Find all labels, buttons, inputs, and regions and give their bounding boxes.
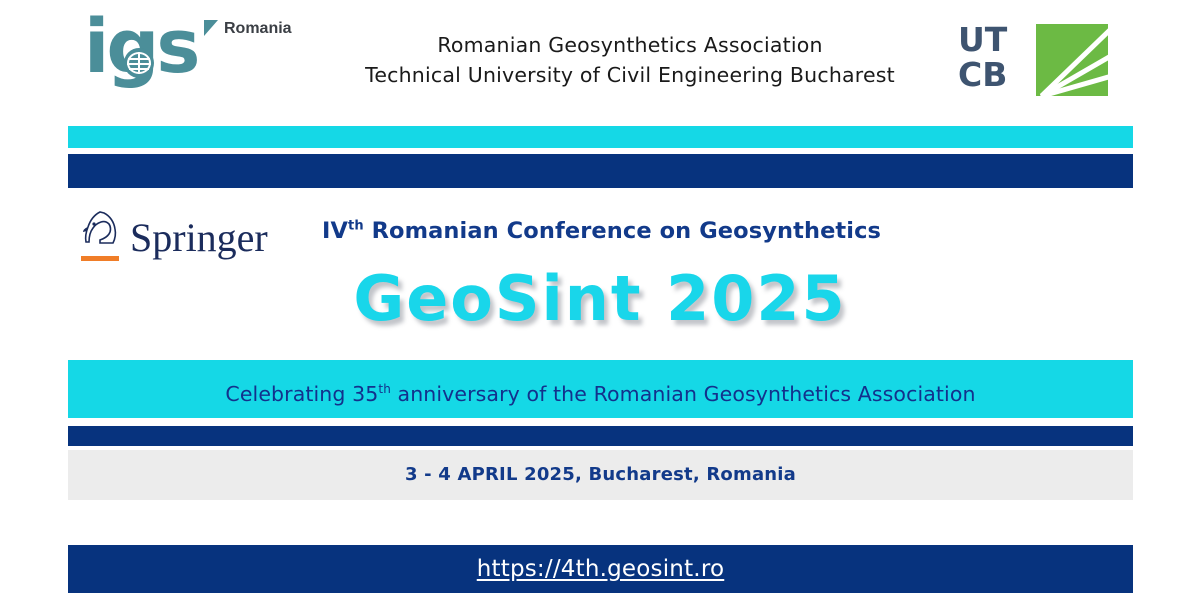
utcb-logo: UT CB — [958, 22, 1138, 102]
website-url-link[interactable]: https://4th.geosint.ro — [68, 545, 1133, 593]
cyan-divider-band-top — [68, 126, 1133, 148]
conference-edition-suffix: th — [348, 219, 364, 234]
organizer-line-2: Technical University of Civil Engineerin… — [330, 60, 930, 90]
utcb-line-1: UT — [958, 22, 1007, 57]
conference-title: IVth Romanian Conference on Geosynthetic… — [322, 218, 881, 244]
header-banner: igs Romania Romanian Geosynthetics Assoc… — [0, 0, 1200, 118]
utcb-wordmark: UT CB — [958, 22, 1007, 92]
igs-region-label: Romania — [224, 20, 292, 38]
organizer-names: Romanian Geosynthetics Association Techn… — [330, 30, 930, 90]
springer-wordmark: Springer — [130, 214, 268, 261]
igs-romania-logo: igs Romania — [84, 18, 299, 98]
globe-icon — [124, 48, 154, 78]
organizer-line-1: Romanian Geosynthetics Association — [330, 30, 930, 60]
globe-grid-lines — [124, 48, 154, 78]
event-date-location: 3 - 4 APRIL 2025, Bucharest, Romania — [68, 450, 1133, 500]
anniversary-text: Celebrating 35th anniversary of the Roma… — [68, 360, 1133, 418]
navy-divider-band-top — [68, 154, 1133, 188]
event-date-band: 3 - 4 APRIL 2025, Bucharest, Romania — [68, 450, 1133, 500]
utcb-line-2: CB — [958, 57, 1007, 92]
anniversary-suffix: th — [378, 382, 391, 396]
flag-icon — [204, 20, 218, 36]
anniversary-band: Celebrating 35th anniversary of the Roma… — [68, 360, 1133, 418]
website-band: https://4th.geosint.ro — [68, 545, 1133, 593]
conference-brand-title: GeoSint 2025 — [0, 262, 1200, 336]
navy-divider-band-mid — [68, 426, 1133, 446]
anniversary-rest: anniversary of the Romanian Geosynthetic… — [391, 382, 976, 406]
springer-orange-rule — [81, 256, 119, 261]
anniversary-prefix: Celebrating 35 — [225, 382, 378, 406]
conference-title-rest: Romanian Conference on Geosynthetics — [364, 218, 881, 244]
conference-edition: IV — [322, 218, 348, 244]
utcb-green-square-icon — [1036, 24, 1108, 96]
knight-horse-head-icon — [80, 210, 122, 254]
